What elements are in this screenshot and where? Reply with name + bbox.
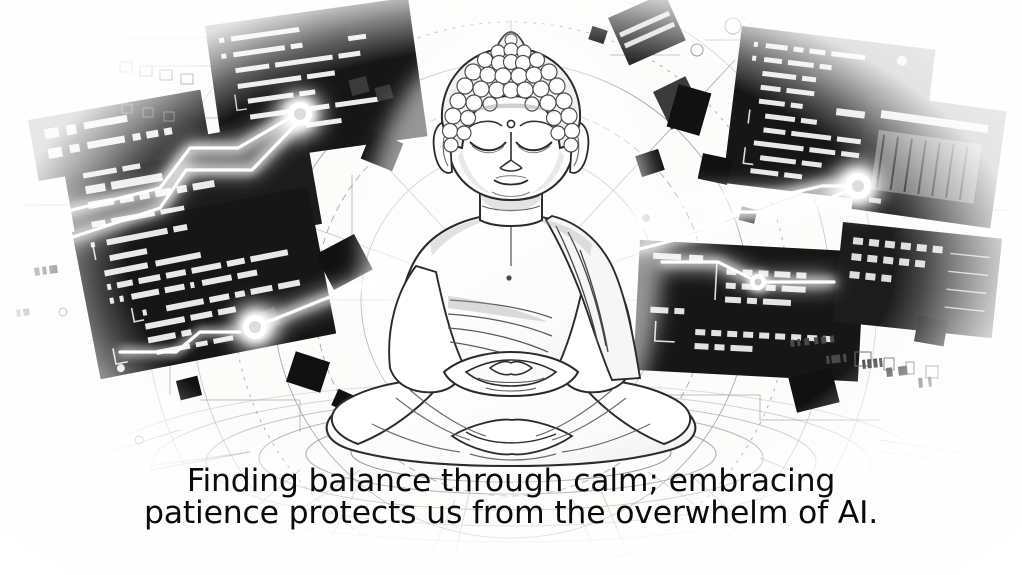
edge-vignette	[0, 0, 1022, 575]
pencil-sketch-artwork	[0, 0, 1022, 575]
illustration-canvas: Finding balance through calm; embracing …	[0, 0, 1022, 575]
